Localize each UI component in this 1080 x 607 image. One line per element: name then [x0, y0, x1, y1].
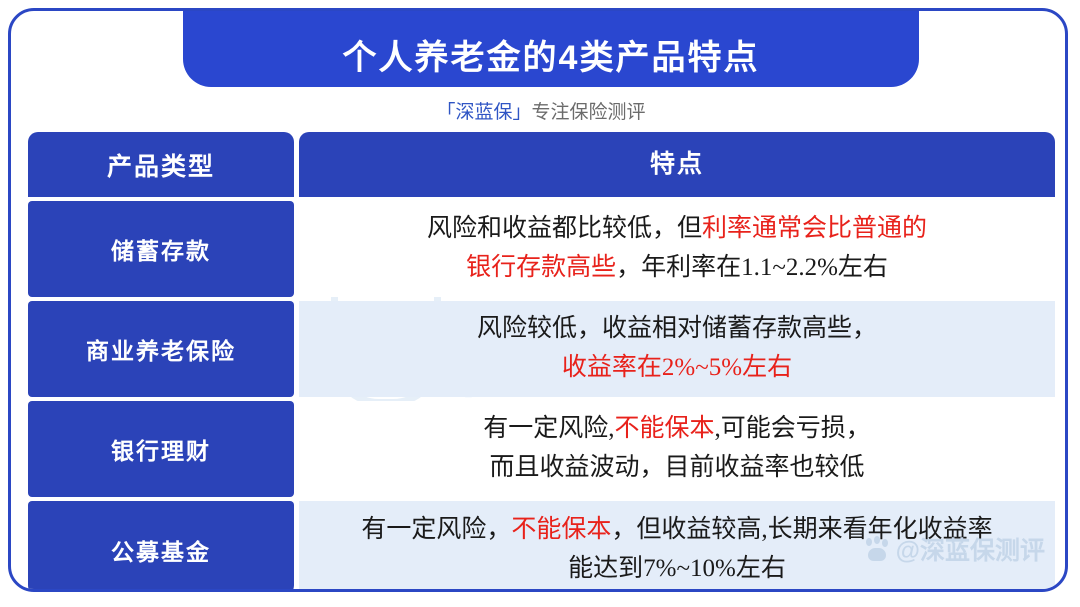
subtitle-tail: 专注保险测评: [532, 102, 646, 123]
author-handle: @深蓝保测评: [896, 531, 1045, 567]
title-banner: 个人养老金的4类产品特点: [183, 8, 919, 87]
page-title: 个人养老金的4类产品特点: [343, 41, 760, 75]
baidu-paw-icon: [864, 536, 891, 563]
row-label-0: 储蓄存款: [28, 201, 294, 297]
subtitle-brand: 「深蓝保」: [436, 102, 531, 123]
author-watermark: @深蓝保测评: [864, 531, 1045, 567]
row-label-2: 银行理财: [28, 401, 294, 497]
info-card: shenlanbao.com 专业保险测评 深蓝保 个人养老金的4类产品特点 「…: [8, 8, 1068, 592]
table-row: 商业养老保险 风险较低，收益相对储蓄存款高些，收益率在2%~5%左右: [28, 301, 1055, 397]
table-row: 银行理财 有一定风险,不能保本,可能会亏损，而且收益波动，目前收益率也较低: [28, 401, 1055, 497]
subtitle: 「深蓝保」专注保险测评: [11, 97, 1068, 124]
feature-table: 产品类型 特点 储蓄存款 风险和收益都比较低，但利率通常会比普通的银行存款高些，…: [28, 132, 1055, 592]
table-row: 储蓄存款 风险和收益都比较低，但利率通常会比普通的银行存款高些，年利率在1.1~…: [28, 201, 1055, 297]
header-cell-product-type: 产品类型: [28, 132, 294, 197]
row-desc-0: 风险和收益都比较低，但利率通常会比普通的银行存款高些，年利率在1.1~2.2%左…: [299, 201, 1055, 297]
row-desc-2: 有一定风险,不能保本,可能会亏损，而且收益波动，目前收益率也较低: [299, 401, 1055, 497]
row-desc-1: 风险较低，收益相对储蓄存款高些，收益率在2%~5%左右: [299, 301, 1055, 397]
header-cell-feature: 特点: [299, 132, 1055, 197]
table-header-row: 产品类型 特点: [28, 132, 1055, 197]
row-label-1: 商业养老保险: [28, 301, 294, 397]
row-label-3: 公募基金: [28, 501, 294, 592]
